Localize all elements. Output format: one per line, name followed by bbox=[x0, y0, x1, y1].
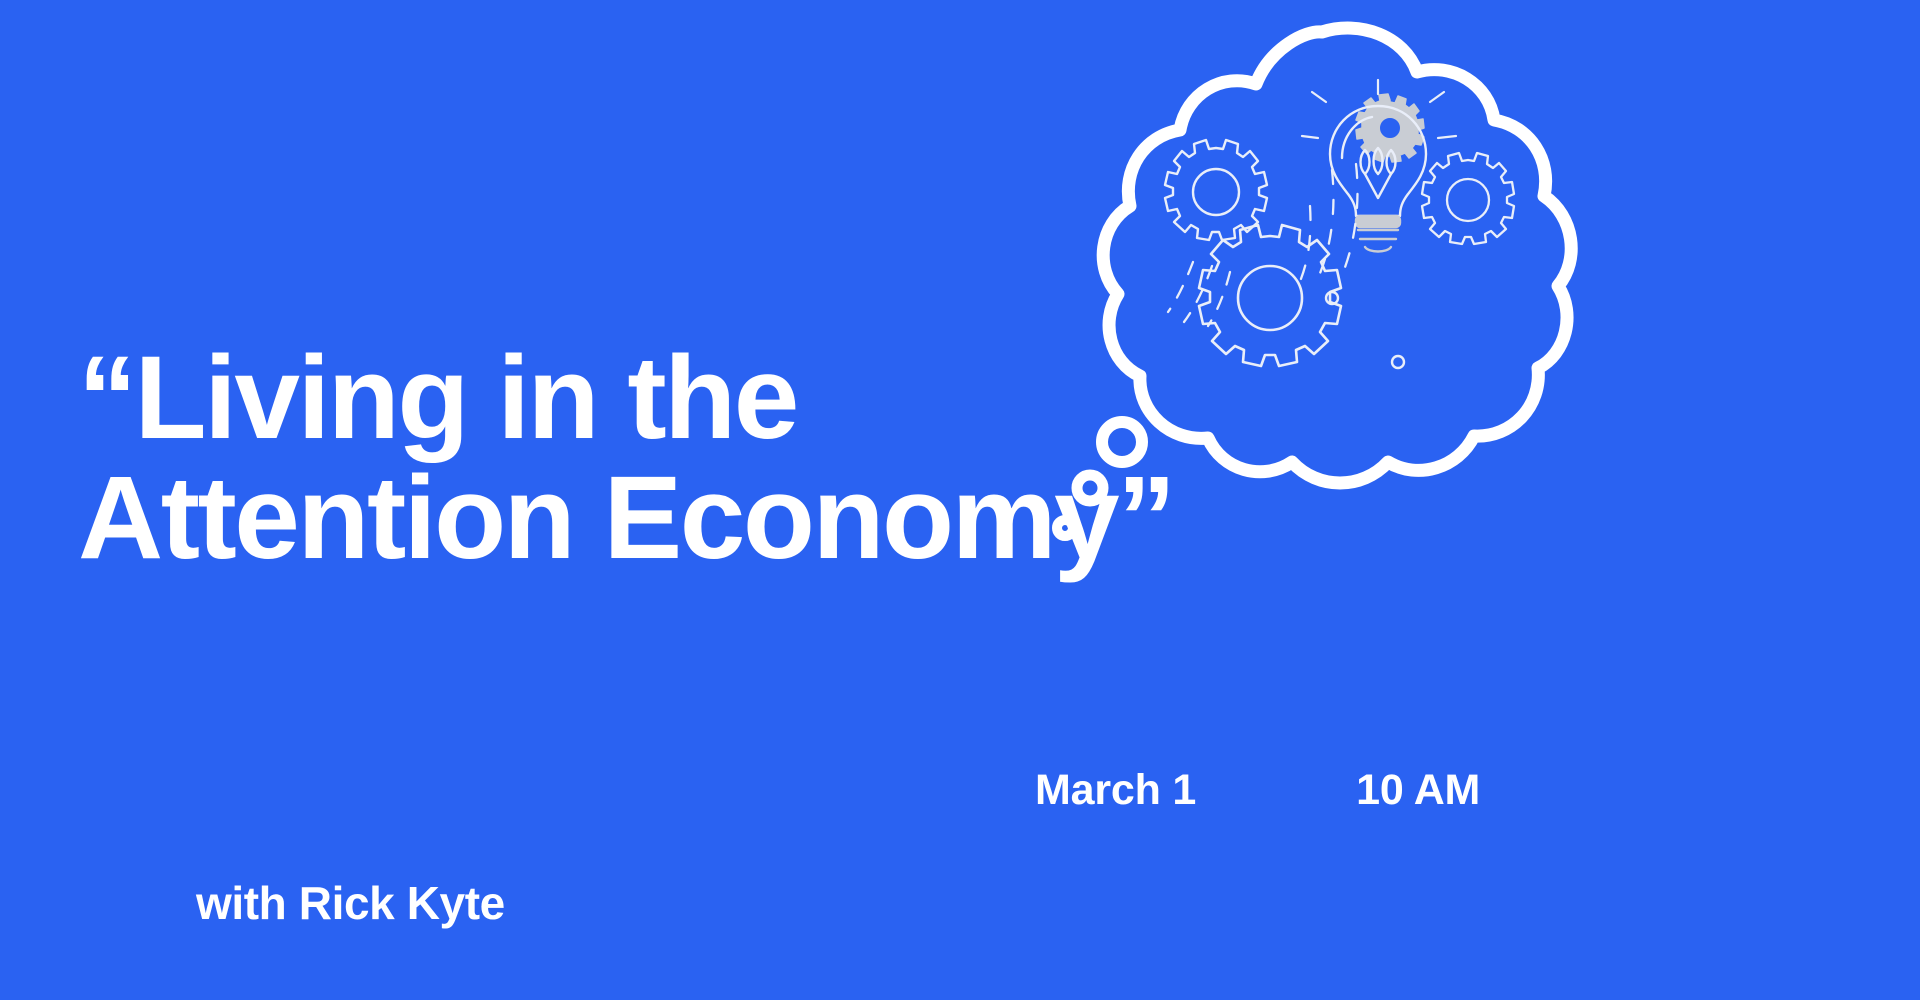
gear-small-icon bbox=[1422, 153, 1514, 244]
event-poster: “Living in the Attention Economy” March … bbox=[0, 0, 1920, 1000]
title-line-1: “Living in the bbox=[78, 338, 1498, 458]
motion-dash-lines bbox=[1298, 164, 1358, 286]
gear-tiny-filled-icon bbox=[1356, 94, 1424, 162]
motion-dash-lines bbox=[1168, 262, 1230, 326]
title-line-2: Attention Economy” bbox=[78, 458, 1498, 578]
page-title: “Living in the Attention Economy” bbox=[78, 338, 1498, 579]
lightbulb-icon bbox=[1302, 80, 1456, 252]
event-datetime: March 1 10 AM bbox=[1035, 766, 1480, 815]
event-presenter: with Rick Kyte bbox=[196, 876, 505, 930]
event-time: 10 AM bbox=[1356, 766, 1480, 815]
dot-accent bbox=[1326, 292, 1338, 304]
gear-medium-icon bbox=[1165, 140, 1267, 240]
event-date: March 1 bbox=[1035, 766, 1196, 815]
